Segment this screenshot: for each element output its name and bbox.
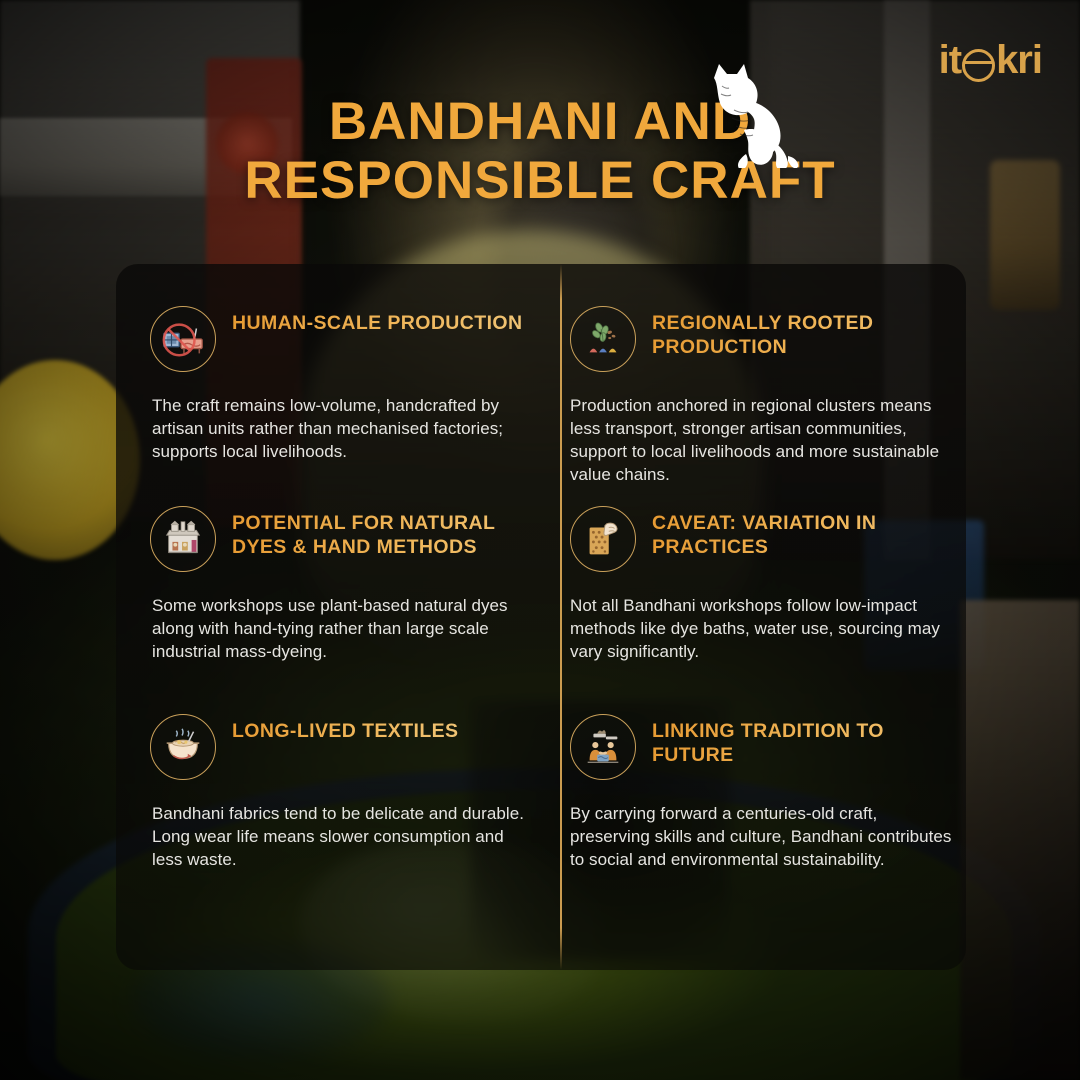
- brand-logo-o-icon: [962, 49, 995, 82]
- card-human-scale-production: HUMAN-SCALE PRODUCTION The craft remains…: [150, 306, 545, 463]
- card-header: HUMAN-SCALE PRODUCTION: [150, 306, 545, 372]
- card-header: LINKING TRADITION TO FUTURE: [570, 714, 965, 780]
- card-title: LINKING TRADITION TO FUTURE: [652, 714, 965, 768]
- two-artisans-working-icon: [570, 714, 636, 780]
- leaves-and-dye-powders-icon: [570, 306, 636, 372]
- card-body: Production anchored in regional clusters…: [570, 394, 955, 486]
- card-title: LONG-LIVED TEXTILES: [232, 714, 458, 744]
- card-body: By carrying forward a centuries-old craf…: [570, 802, 955, 871]
- no-factory-machine-icon: [150, 306, 216, 372]
- brand-logo-text-before: it: [939, 40, 961, 80]
- title-line-2: RESPONSIBLE CRAFT: [0, 151, 1080, 210]
- card-body: Some workshops use plant-based natural d…: [152, 594, 537, 663]
- card-header: CAVEAT: VARIATION IN PRACTICES: [570, 506, 965, 572]
- card-title: HUMAN-SCALE PRODUCTION: [232, 306, 522, 336]
- cards-grid: HUMAN-SCALE PRODUCTION The craft remains…: [116, 264, 966, 970]
- card-title: CAVEAT: VARIATION IN PRACTICES: [652, 506, 965, 560]
- card-header: POTENTIAL FOR NATURAL DYES & HAND METHOD…: [150, 506, 545, 572]
- card-body: Bandhani fabrics tend to be delicate and…: [152, 802, 537, 871]
- page-title: BANDHANI AND RESPONSIBLE CRAFT: [0, 92, 1080, 211]
- card-potential-for-natural-dyes: POTENTIAL FOR NATURAL DYES & HAND METHOD…: [150, 506, 545, 663]
- card-caveat-variation-in-practices: CAVEAT: VARIATION IN PRACTICES Not all B…: [570, 506, 965, 663]
- hand-holding-patterned-fabric-icon: [570, 506, 636, 572]
- brand-logo[interactable]: itkri: [939, 40, 1042, 80]
- title-heading: BANDHANI AND RESPONSIBLE CRAFT: [0, 92, 1080, 211]
- card-long-lived-textiles: LONG-LIVED TEXTILES Bandhani fabrics ten…: [150, 714, 545, 871]
- card-body: Not all Bandhani workshops follow low-im…: [570, 594, 955, 663]
- card-body: The craft remains low-volume, handcrafte…: [152, 394, 537, 463]
- infographic-canvas: itkri BANDHANI AND RESPONSIBLE CRAFT: [0, 0, 1080, 1080]
- card-title: REGIONALLY ROOTED PRODUCTION: [652, 306, 965, 360]
- steaming-dye-pot-icon: [150, 714, 216, 780]
- artisan-workshop-building-icon: [150, 506, 216, 572]
- card-title: POTENTIAL FOR NATURAL DYES & HAND METHOD…: [232, 506, 545, 560]
- card-linking-tradition-to-future: LINKING TRADITION TO FUTURE By carrying …: [570, 714, 965, 871]
- brand-logo-text-after: kri: [996, 40, 1042, 80]
- card-header: REGIONALLY ROOTED PRODUCTION: [570, 306, 965, 372]
- card-header: LONG-LIVED TEXTILES: [150, 714, 545, 780]
- cat-mascot-icon: [688, 58, 808, 168]
- card-regionally-rooted-production: REGIONALLY ROOTED PRODUCTION Production …: [570, 306, 965, 486]
